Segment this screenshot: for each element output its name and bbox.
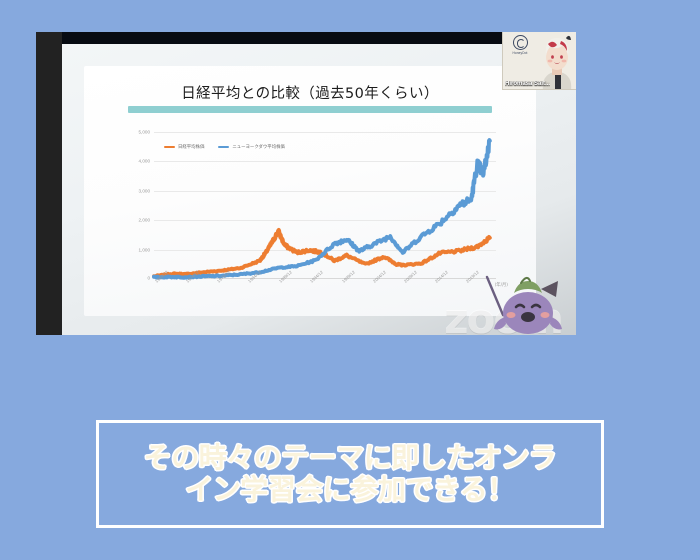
y-axis-tick-label: 5,000: [139, 130, 151, 135]
letterbox-top-bar: [36, 32, 576, 44]
legend-label-dow: ニューヨークダウ平均株価: [232, 144, 285, 150]
slide-panel: 日経平均との比較（過去50年くらい） 5,000 4,000 3,000: [84, 66, 536, 316]
y-axis-tick-label: 2,000: [139, 218, 151, 223]
legend-swatch-nikkei: [164, 146, 175, 148]
letterbox-left-bar: [36, 32, 62, 335]
brand-name-label: HoneyDot: [507, 51, 533, 55]
title-underline-accent: [128, 106, 492, 113]
caption-text: その時々のテーマに即したオンラ イン学習会に参加できる！: [144, 442, 557, 506]
webcam-self-view-tile[interactable]: HoneyDot Hiromasa Sait...: [502, 32, 576, 90]
y-axis-tick-label: 0: [147, 276, 150, 281]
caption-line-1: その時々のテーマに即したオンラ: [144, 441, 557, 474]
legend-item-dow: ニューヨークダウ平均株価: [218, 144, 285, 150]
y-axis-tick-label: 3,000: [139, 188, 151, 193]
brand-badge: HoneyDot: [507, 35, 533, 55]
comparison-line-chart: 5,000 4,000 3,000 2,000 1,000: [112, 122, 512, 308]
chart-plot-area: 5,000 4,000 3,000 2,000 1,000: [154, 132, 496, 279]
participant-name-label: Hiromasa Sait...: [505, 81, 550, 87]
y-axis-tick-label: 4,000: [139, 159, 151, 164]
series-line-dow: [154, 140, 490, 278]
caption-banner: その時々のテーマに即したオンラ イン学習会に参加できる！: [96, 420, 604, 528]
honeydot-logo-icon: [513, 35, 528, 50]
legend-item-nikkei: 日経平均株価: [164, 144, 204, 150]
chart-legend: 日経平均株価 ニューヨークダウ平均株価: [164, 144, 285, 150]
chart-series-svg: [154, 132, 496, 279]
legend-label-nikkei: 日経平均株価: [178, 144, 204, 150]
x-axis-tick-labels: (年/月) 1969/121974/121979/121984/121989/1…: [154, 280, 496, 306]
caption-line-2: イン学習会に参加できる！: [185, 473, 514, 506]
shared-slide: 日経平均との比較（過去50年くらい） 5,000 4,000 3,000: [62, 44, 576, 335]
legend-swatch-dow: [218, 146, 229, 148]
zoom-screenshare-capture: 日経平均との比較（過去50年くらい） 5,000 4,000 3,000: [36, 32, 576, 335]
y-axis-tick-label: 1,000: [139, 247, 151, 252]
eggplant-mascot-icon: [478, 269, 570, 335]
slide-title: 日経平均との比較（過去50年くらい）: [84, 82, 536, 103]
